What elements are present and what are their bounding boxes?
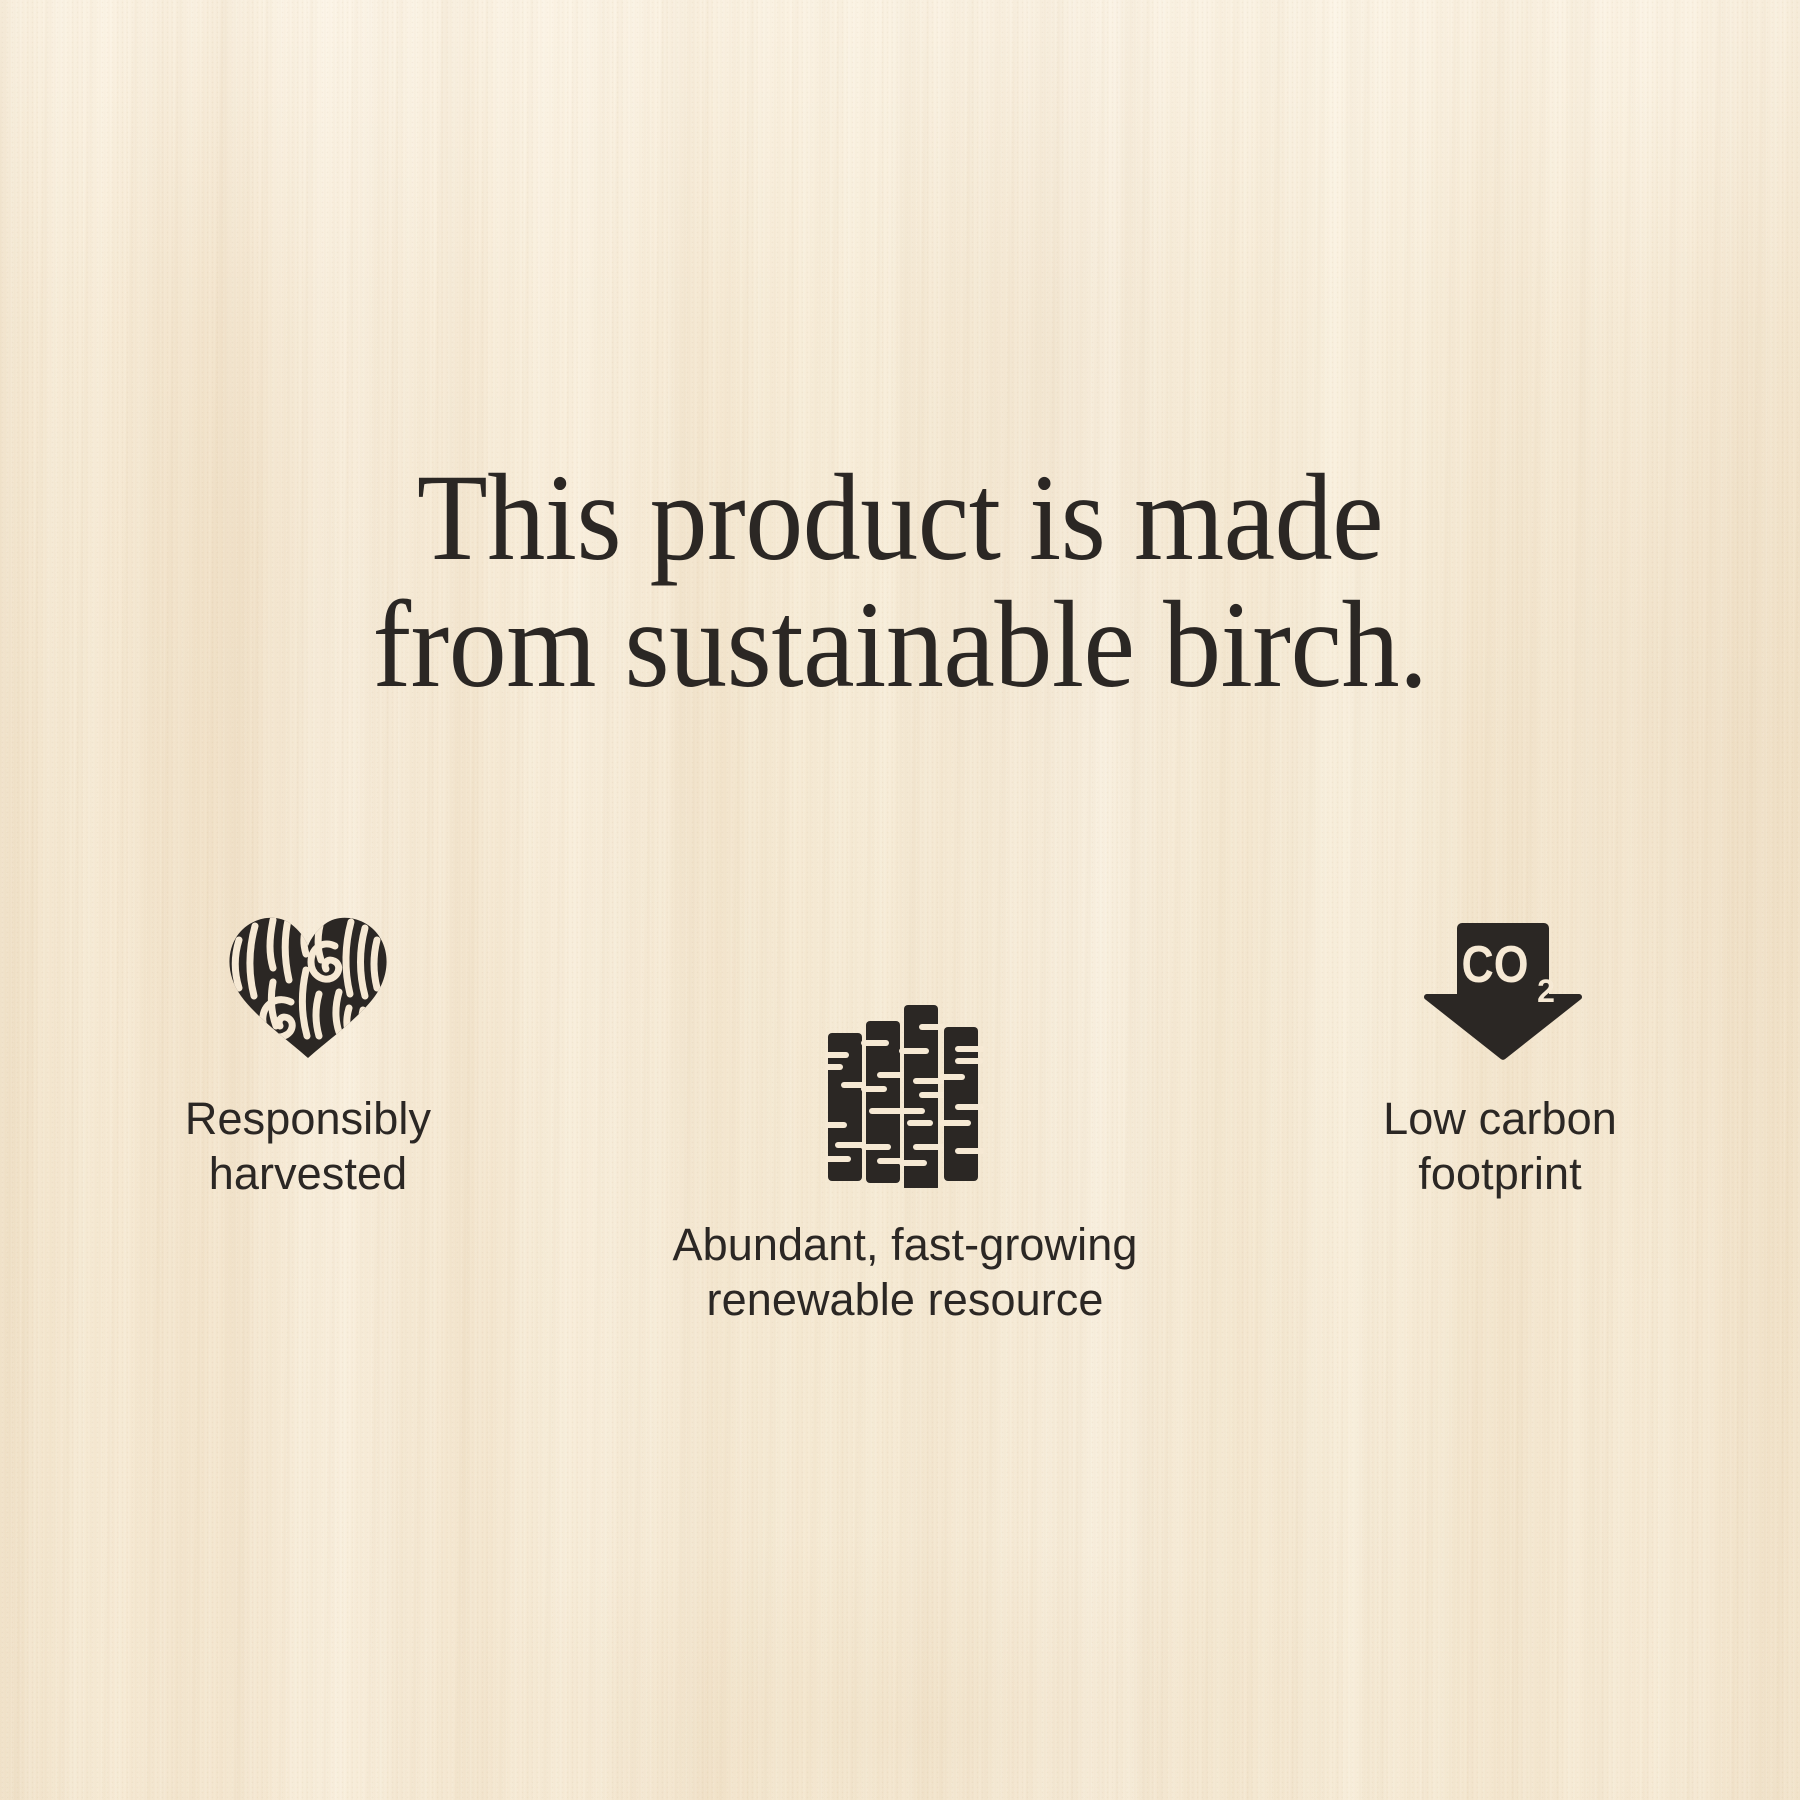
feature-label: Low carbon footprint: [1310, 1092, 1690, 1202]
headline-line-1: This product is made: [59, 455, 1742, 581]
feature-renewable-resource: Abundant, fast-growing renewable resourc…: [660, 996, 1150, 1328]
birch-trunks-icon: [826, 1003, 984, 1188]
headline-line-2: from sustainable birch.: [59, 582, 1742, 708]
feature-label: Abundant, fast-growing renewable resourc…: [660, 1218, 1150, 1328]
feature-row: Responsibly harvested: [0, 900, 1800, 1380]
co2-down-arrow-icon: CO 2: [1415, 920, 1585, 1060]
feature-responsibly-harvested: Responsibly harvested: [118, 900, 498, 1202]
feature-icon-wrap: [118, 900, 498, 1060]
feature-label: Responsibly harvested: [118, 1092, 498, 1202]
sustainability-card: This product is made from sustainable bi…: [0, 0, 1800, 1800]
feature-low-carbon-footprint: CO 2 Low carbon footprint: [1310, 904, 1690, 1202]
co2-icon-text: CO: [1461, 936, 1528, 994]
headline: This product is made from sustainable bi…: [59, 455, 1742, 708]
feature-icon-wrap: [660, 996, 1150, 1188]
woodgrain-heart-icon: [227, 910, 389, 1060]
feature-icon-wrap: CO 2: [1310, 904, 1690, 1060]
co2-icon-subscript: 2: [1537, 973, 1555, 1009]
